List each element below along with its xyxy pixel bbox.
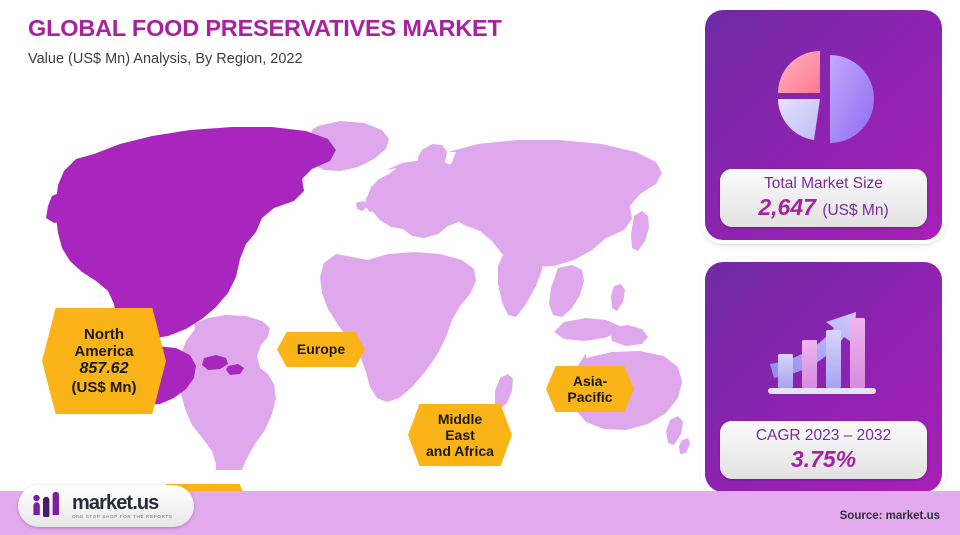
region-label-europe[interactable]: Europe — [277, 332, 365, 367]
market-us-logo-text: market.us ONE STOP SHOP FOR THE REPORTS — [72, 493, 173, 520]
market-size-value: 2,647 — [758, 194, 816, 220]
market-size-value-row: 2,647 (US$ Mn) — [724, 194, 923, 220]
pie-chart-icon — [717, 22, 930, 169]
source-attribution: Source: market.us — [840, 510, 940, 522]
world-map: North America 857.62 (US$ Mn) Europe Sou… — [18, 110, 690, 470]
market-size-label: Total Market Size — [724, 175, 923, 193]
infographic-root: GLOBAL FOOD PRESERVATIVES MARKET Value (… — [0, 0, 960, 535]
region-name-line-1: Middle — [438, 411, 482, 427]
region-name-line-2: East — [445, 427, 475, 443]
region-label-middle-east-and-africa[interactable]: Middle East and Africa — [408, 404, 512, 466]
market-us-logo[interactable]: market.us ONE STOP SHOP FOR THE REPORTS — [18, 485, 194, 527]
stat-card-market-size: Total Market Size 2,647 (US$ Mn) — [705, 10, 942, 240]
region-unit-north-america: (US$ Mn) — [46, 379, 162, 396]
region-label-europe-text: Europe — [281, 341, 361, 357]
region-label-asia-pacific[interactable]: Asia- Pacific — [546, 366, 634, 412]
header: GLOBAL FOOD PRESERVATIVES MARKET Value (… — [28, 14, 668, 69]
market-us-logo-icon — [31, 491, 65, 522]
page-subtitle: Value (US$ Mn) Analysis, By Region, 2022 — [28, 51, 668, 68]
region-name-line-2: America — [74, 343, 133, 360]
region-value-north-america: 857.62 — [46, 360, 162, 379]
market-size-panel: Total Market Size 2,647 (US$ Mn) — [720, 169, 927, 227]
region-name-line-2: Pacific — [567, 389, 612, 405]
cagr-panel: CAGR 2023 – 2032 3.75% — [720, 421, 927, 479]
market-size-unit: (US$ Mn) — [822, 202, 888, 219]
page-title: GLOBAL FOOD PRESERVATIVES MARKET — [28, 14, 668, 42]
logo-tagline: ONE STOP SHOP FOR THE REPORTS — [72, 515, 173, 520]
region-label-north-america[interactable]: North America 857.62 (US$ Mn) — [42, 308, 166, 414]
logo-wordmark: market.us — [72, 493, 173, 513]
cagr-label: CAGR 2023 – 2032 — [724, 427, 923, 445]
cagr-value: 3.75% — [724, 446, 923, 472]
region-label-north-america-text: North America 857.62 (US$ Mn) — [46, 326, 162, 397]
growth-bar-chart-icon — [717, 274, 930, 421]
region-name-line-1: North — [84, 326, 124, 343]
region-label-middle-east-and-africa-text: Middle East and Africa — [412, 411, 508, 460]
region-name-line-3: and Africa — [426, 443, 494, 459]
stat-card-cagr: CAGR 2023 – 2032 3.75% — [705, 262, 942, 492]
region-name-line-1: Asia- — [573, 373, 607, 389]
region-label-asia-pacific-text: Asia- Pacific — [550, 373, 630, 405]
